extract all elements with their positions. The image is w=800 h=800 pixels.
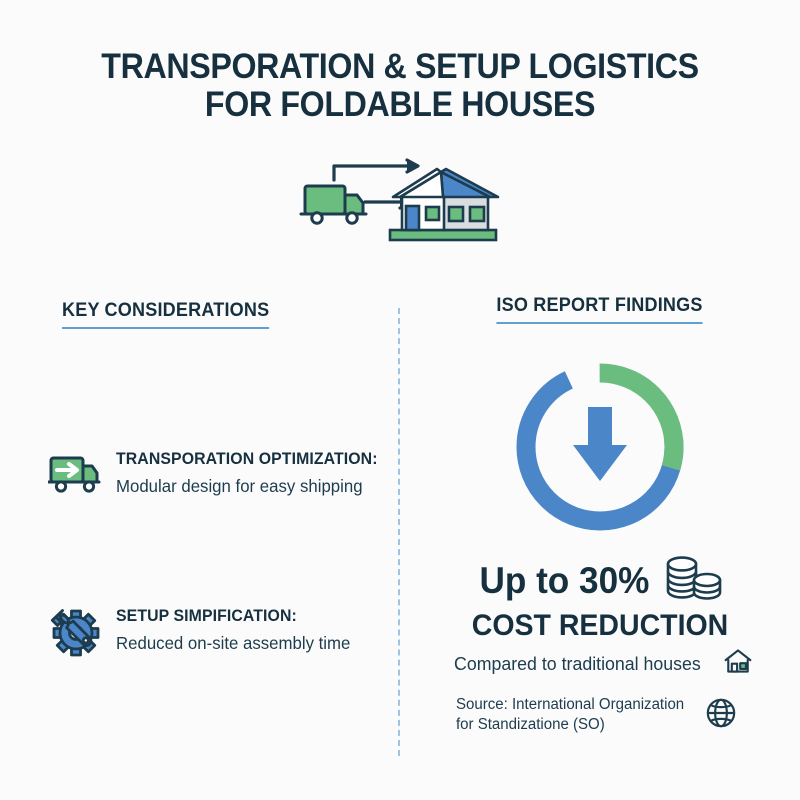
coin-stack-icon	[663, 553, 725, 608]
infographic-page: TRANSPORATION & SETUP LOGISTICS FOR FOLD…	[0, 0, 800, 800]
list-item: TRANSPORATION OPTIMIZATION: Modular desi…	[48, 448, 398, 500]
arrow-right-icon	[334, 160, 418, 180]
stat-headline: Up to 30%	[479, 561, 649, 601]
stat-subhead: COST REDUCTION	[472, 609, 729, 643]
list-item-subtitle: Modular design for easy shipping	[116, 476, 378, 497]
list-item-text: TRANSPORATION OPTIMIZATION: Modular desi…	[116, 448, 389, 497]
house-outline-icon	[723, 647, 753, 680]
title-line-2: FOR FOLDABLE HOUSES	[32, 86, 768, 124]
comparison-text: Compared to traditional houses	[454, 653, 701, 675]
globe-icon	[705, 697, 737, 734]
source-row: Source: International Organization for S…	[456, 695, 800, 735]
iso-report-findings-column: ISO REPORT FINDINGS Up to 30%	[400, 295, 800, 324]
hero-illustration	[290, 150, 510, 250]
key-considerations-column: KEY CONSIDERATIONS TRANSPORATION OPTIMIZ…	[0, 300, 398, 329]
source-line-1: Source: International Organization	[456, 695, 684, 715]
source-text: Source: International Organization for S…	[456, 695, 684, 735]
list-item-title: TRANSPORATION OPTIMIZATION:	[116, 450, 378, 469]
cost-reduction-donut-chart	[510, 357, 690, 537]
comparison-row: Compared to traditional houses	[454, 647, 800, 680]
source-line-2: for Standizatione (SO)	[456, 715, 684, 735]
arrow-down-icon	[573, 407, 627, 481]
truck-arrow-icon	[48, 448, 102, 500]
stat-block: Up to 30%	[400, 553, 800, 643]
list-item-title: SETUP SIMPIFICATION:	[116, 607, 350, 626]
wrench-gear-icon	[48, 605, 102, 657]
iso-findings-heading-wrap: ISO REPORT FINDINGS	[400, 295, 800, 324]
house-icon	[390, 169, 498, 240]
list-item-subtitle: Reduced on-site assembly time	[116, 633, 350, 654]
key-considerations-heading: KEY CONSIDERATIONS	[62, 300, 269, 329]
iso-findings-heading: ISO REPORT FINDINGS	[497, 295, 703, 324]
stat-subhead-row: COST REDUCTION	[400, 609, 800, 643]
key-considerations-heading-wrap: KEY CONSIDERATIONS	[0, 300, 398, 329]
list-item: SETUP SIMPIFICATION: Reduced on-site ass…	[48, 605, 398, 657]
page-title: TRANSPORATION & SETUP LOGISTICS FOR FOLD…	[0, 48, 800, 124]
list-item-text: SETUP SIMPIFICATION: Reduced on-site ass…	[116, 605, 360, 654]
column-divider	[398, 308, 400, 756]
title-line-1: TRANSPORATION & SETUP LOGISTICS	[32, 48, 768, 86]
delivery-truck-icon	[301, 186, 366, 223]
stat-headline-row: Up to 30%	[400, 553, 800, 608]
